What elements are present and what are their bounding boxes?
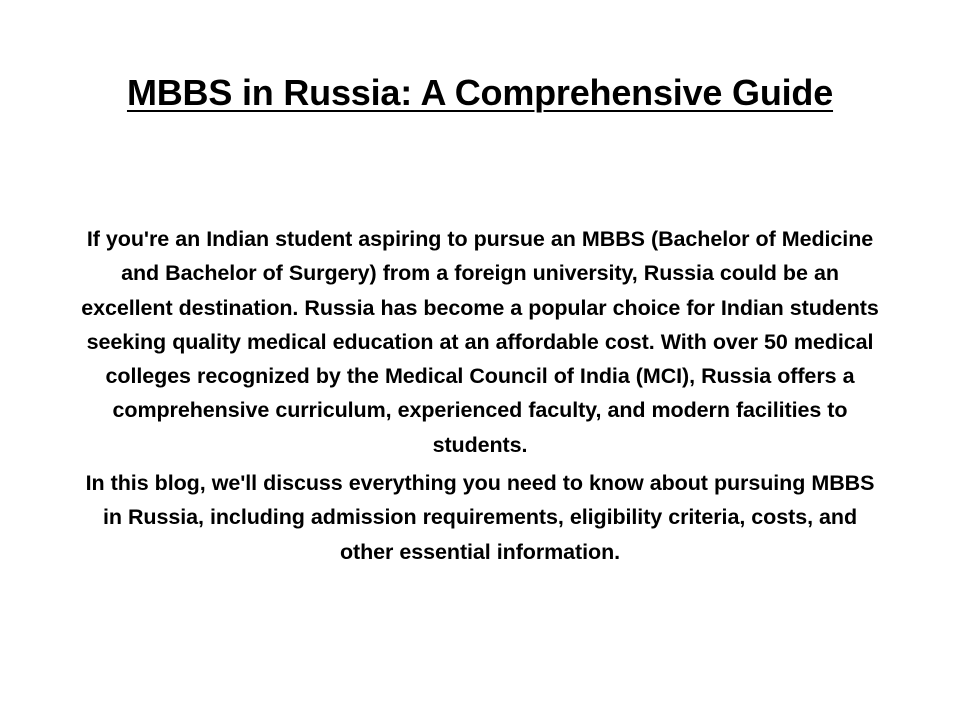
slide-title-container: MBBS in Russia: A Comprehensive Guide (0, 70, 960, 116)
body-paragraph-2: In this blog, we'll discuss everything y… (80, 466, 880, 569)
body-paragraph-1: If you're an Indian student aspiring to … (80, 222, 880, 462)
slide-body-container: If you're an Indian student aspiring to … (80, 222, 880, 569)
presentation-slide: MBBS in Russia: A Comprehensive Guide If… (0, 0, 960, 720)
page-title: MBBS in Russia: A Comprehensive Guide (127, 70, 833, 116)
